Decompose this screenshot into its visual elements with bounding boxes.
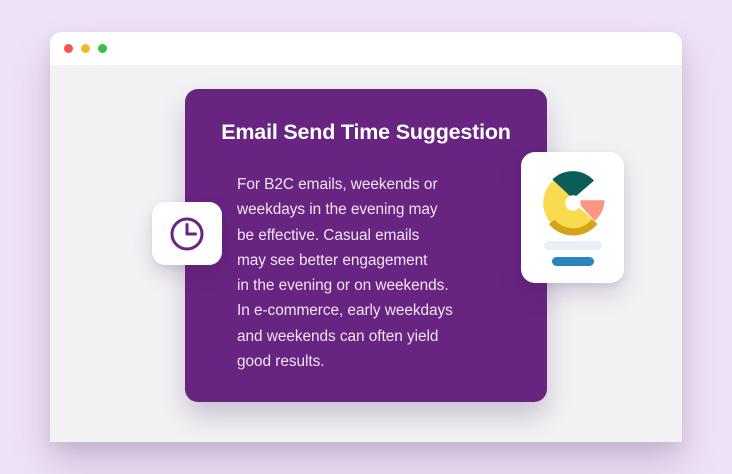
placeholder-bar-light xyxy=(544,241,602,250)
close-button[interactable] xyxy=(64,44,73,53)
screenshot-root: Email Send Time Suggestion For B2C email… xyxy=(0,0,732,474)
clock-badge-card xyxy=(152,202,222,265)
body-line: For B2C emails, weekends or xyxy=(237,172,482,197)
pie-chart-card xyxy=(521,152,624,283)
pie-chart-icon xyxy=(538,168,608,238)
body-line: good results. xyxy=(237,349,482,374)
clock-icon xyxy=(168,215,206,253)
body-line: may see better engagement xyxy=(237,248,482,273)
body-line: In e-commerce, early weekdays xyxy=(237,298,482,323)
body-line: weekdays in the evening may xyxy=(237,197,482,222)
minimize-button[interactable] xyxy=(81,44,90,53)
body-line: in the evening or on weekends. xyxy=(237,273,482,298)
placeholder-bar-blue xyxy=(552,257,594,266)
body-line: and weekends can often yield xyxy=(237,324,482,349)
pie-center-hole xyxy=(565,195,580,210)
email-send-time-suggestion-card: Email Send Time Suggestion For B2C email… xyxy=(185,89,547,402)
body-line: be effective. Casual emails xyxy=(237,223,482,248)
page-title: Email Send Time Suggestion xyxy=(185,120,547,146)
suggestion-body-text: For B2C emails, weekends or weekdays in … xyxy=(237,172,482,374)
maximize-button[interactable] xyxy=(98,44,107,53)
browser-title-bar xyxy=(50,32,682,65)
placeholder-bars xyxy=(521,241,624,266)
window-controls xyxy=(64,44,107,53)
